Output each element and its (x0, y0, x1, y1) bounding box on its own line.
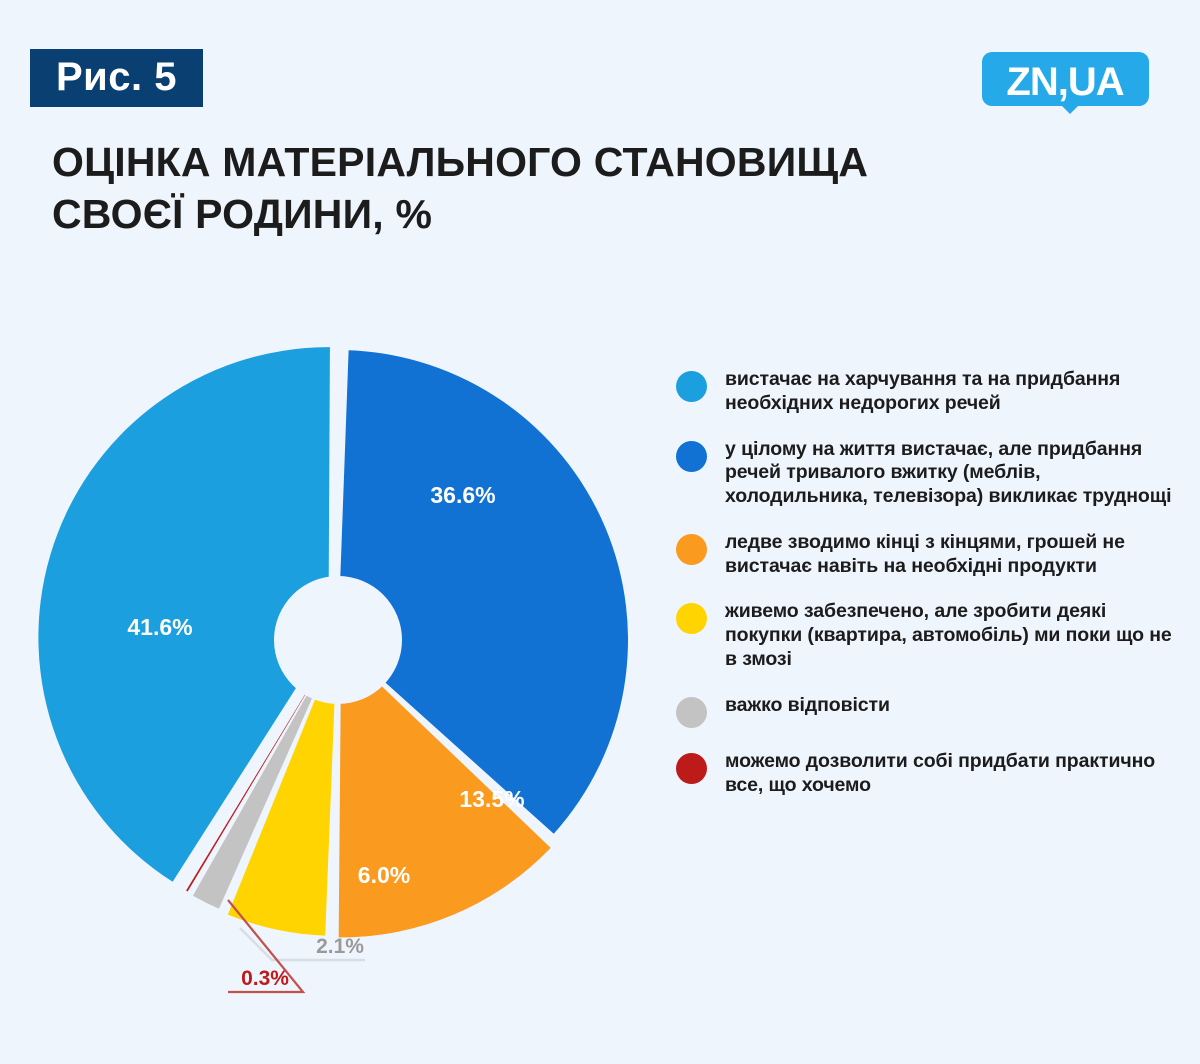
legend-item[interactable]: вистачає на харчування та на придбання н… (676, 368, 1188, 416)
legend-item-label: важко відповісти (725, 694, 890, 718)
legend-item-label: можемо дозволити собі придбати практично… (725, 750, 1188, 798)
legend-color-dot-red (676, 753, 707, 784)
legend-color-dot-blue (676, 441, 707, 472)
legend-color-dot-yellow (676, 603, 707, 634)
legend-color-dot-orange (676, 534, 707, 565)
figure-number-badge: Рис. 5 (30, 49, 203, 107)
legend-color-dot-light-blue (676, 371, 707, 402)
zn-ua-logo[interactable]: ZN,UA (982, 52, 1149, 114)
legend-color-dot-gray (676, 697, 707, 728)
pie-label-red: 0.3% (241, 967, 289, 990)
pie-label-gray: 2.1% (316, 935, 364, 958)
page-title: ОЦІНКА МАТЕРІАЛЬНОГО СТАНОВИЩА СВОЄЇ РОД… (52, 136, 932, 240)
legend-item[interactable]: можемо дозволити собі придбати практично… (676, 750, 1188, 798)
legend-item-label: у цілому на життя вистачає, але придбанн… (725, 438, 1188, 509)
legend-item[interactable]: живемо забезпечено, але зробити деякі по… (676, 600, 1188, 671)
pie-chart: 41.6% 36.6% 13.5% 6.0% 2.1% 0.3% (0, 320, 660, 1040)
pie-label-orange: 13.5% (459, 786, 524, 812)
pie-label-yellow: 6.0% (358, 862, 410, 888)
donut-hole (274, 576, 402, 704)
legend-item[interactable]: важко відповісти (676, 694, 1188, 728)
pie-label-light-blue: 41.6% (127, 614, 192, 640)
legend-item-label: ледве зводимо кінці з кінцями, грошей не… (725, 531, 1188, 579)
chart-legend: вистачає на харчування та на придбання н… (676, 368, 1188, 819)
legend-item[interactable]: у цілому на життя вистачає, але придбанн… (676, 438, 1188, 509)
logo-text: ZN,UA (1006, 60, 1123, 104)
legend-item-label: живемо забезпечено, але зробити деякі по… (725, 600, 1188, 671)
legend-item-label: вистачає на харчування та на придбання н… (725, 368, 1188, 416)
legend-item[interactable]: ледве зводимо кінці з кінцями, грошей не… (676, 531, 1188, 579)
pie-label-blue: 36.6% (430, 482, 495, 508)
